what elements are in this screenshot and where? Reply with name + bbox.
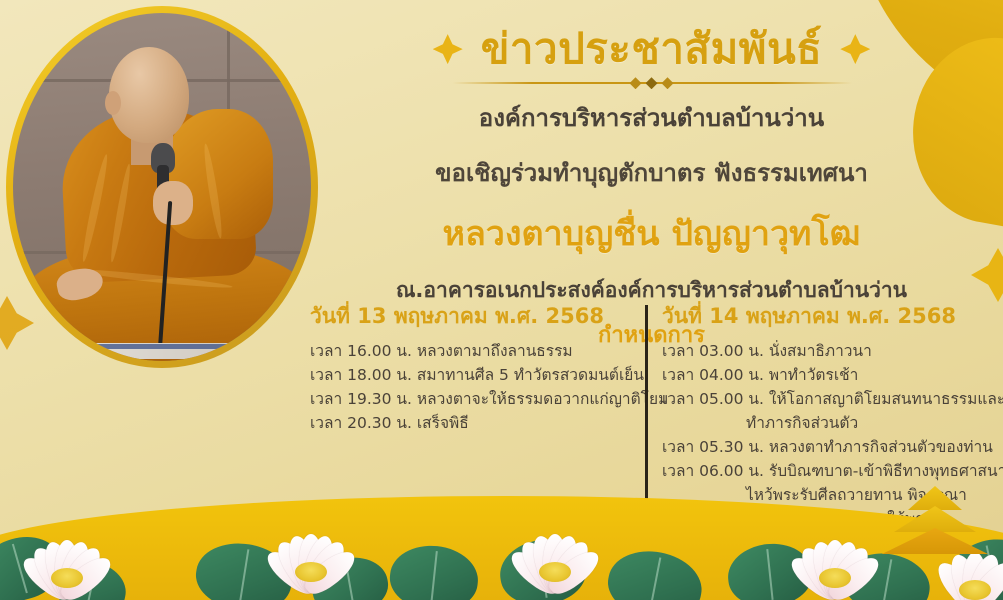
monk-name: หลวงตาบุญชื่น ปัญญาวุทโฒ	[300, 206, 1003, 260]
schedule-row: เวลา 18.00 น. สมาทานศีล 5 ทำวัตรสวดมนต์เ…	[310, 363, 645, 387]
day2-heading: วันที่ 14 พฤษภาคม พ.ศ. 2568	[662, 300, 1002, 333]
schedule-row-text: เวลา 16.00 น. หลวงตามาถึงลานธรรม	[310, 342, 573, 360]
schedule-row: เวลา 16.00 น. หลวงตามาถึงลานธรรม	[310, 339, 645, 363]
schedule-row-text: เวลา 04.00 น. พาทำวัตรเช้า	[662, 366, 858, 384]
schedule-row: เวลา 05.00 น. ให้โอกาสญาติโยมสนทนาธรรมแล…	[662, 387, 1002, 435]
lotus-flower-icon	[12, 524, 122, 600]
schedule-row-continuation: ทำภารกิจส่วนตัว	[662, 411, 1002, 435]
schedule-row-text: เวลา 03.00 น. นั่งสมาธิภาวนา	[662, 342, 872, 360]
invitation-line: ขอเชิญร่วมทำบุญตักบาตร ฟังธรรมเทศนา	[300, 153, 1003, 192]
schedule-row-text: เวลา 18.00 น. สมาทานศีล 5 ทำวัตรสวดมนต์เ…	[310, 366, 644, 384]
quatrefoil-right-icon	[840, 34, 870, 64]
column-divider	[645, 305, 648, 505]
lotus-leaf-icon	[603, 544, 708, 600]
page-title: ข่าวประชาสัมพันธ์	[481, 26, 823, 72]
schedule-row-text: เวลา 05.30 น. หลวงตาทำภารกิจส่วนตัวของท่…	[662, 438, 993, 456]
title-row: ข่าวประชาสัมพันธ์	[300, 26, 1003, 72]
divider-gem-icon	[662, 77, 674, 89]
schedule-row: เวลา 03.00 น. นั่งสมาธิภาวนา	[662, 339, 1002, 363]
lotus-flower-icon	[256, 518, 366, 598]
monk-head-shape	[109, 47, 189, 143]
lotus-leaf-icon	[387, 542, 481, 600]
divider-gem-icon	[630, 77, 642, 89]
organization-name: องค์การบริหารส่วนตำบลบ้านว่าน	[300, 98, 1003, 137]
schedule-row-text: เวลา 19.30 น. หลวงตาจะให้ธรรมดอวากแก่ญาต…	[310, 390, 668, 408]
lotus-flower-icon	[500, 518, 610, 598]
schedule-row: เวลา 04.00 น. พาทำวัตรเช้า	[662, 363, 1002, 387]
lotus-flower-icon	[780, 524, 890, 600]
schedule-row-text: เวลา 20.30 น. เสร็จพิธี	[310, 414, 469, 432]
schedule-row-text: เวลา 06.00 น. รับบิณฑบาต-เข้าพิธีทางพุทธ…	[662, 462, 1003, 480]
day1-heading: วันที่ 13 พฤษภาคม พ.ศ. 2568	[310, 300, 645, 333]
lotus-decoration-band	[0, 496, 1003, 600]
schedule-row-text: เวลา 05.00 น. ให้โอกาสญาติโยมสนทนาธรรมแล…	[662, 390, 1003, 408]
monk-ear-shape	[105, 91, 121, 115]
schedule-row: เวลา 05.30 น. หลวงตาทำภารกิจส่วนตัวของท่…	[662, 435, 1002, 459]
announcement-poster: ข่าวประชาสัมพันธ์ องค์การบริหารส่วนตำบลบ…	[0, 0, 1003, 600]
quatrefoil-left-icon	[433, 34, 463, 64]
monk-right-hand-shape	[153, 181, 193, 225]
title-divider	[452, 76, 852, 90]
thai-pagoda-roof-icon	[881, 488, 989, 554]
schedule-row: เวลา 20.30 น. เสร็จพิธี	[310, 411, 645, 435]
schedule-row: เวลา 19.30 น. หลวงตาจะให้ธรรมดอวากแก่ญาต…	[310, 387, 645, 411]
divider-gem-icon	[646, 77, 658, 89]
